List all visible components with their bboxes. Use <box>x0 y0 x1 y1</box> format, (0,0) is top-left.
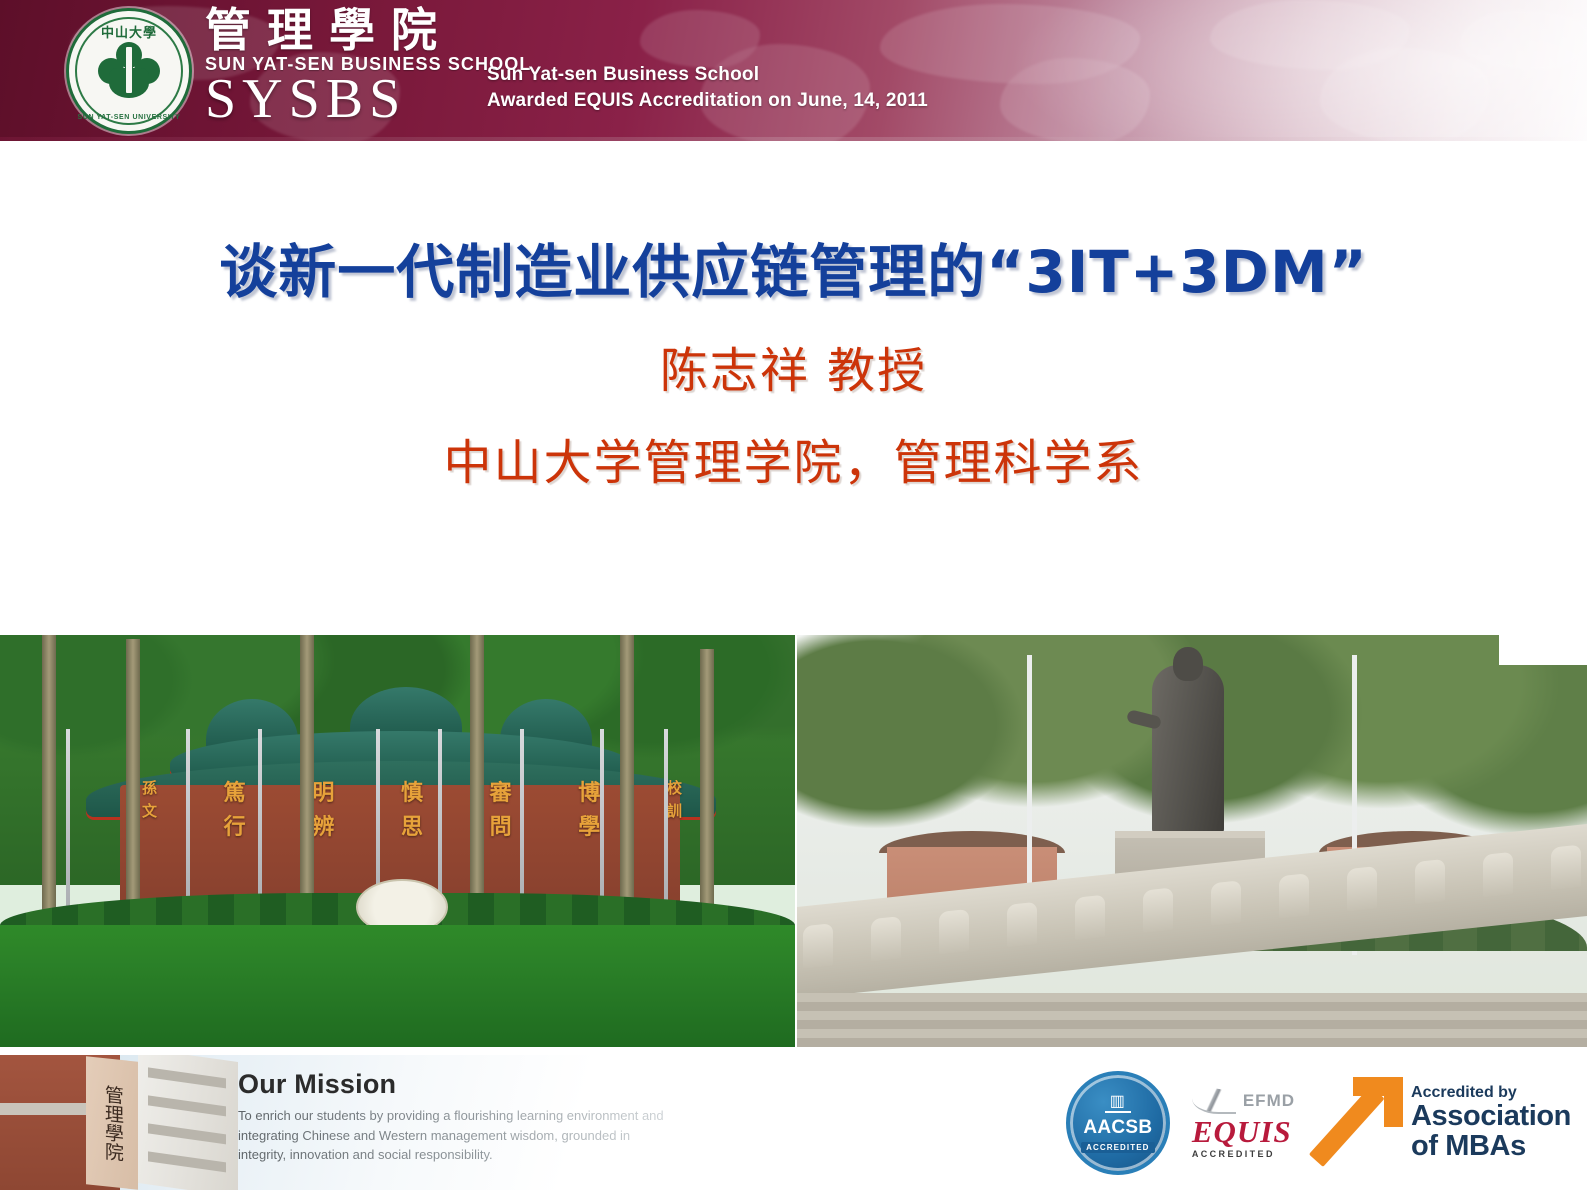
banner-glow <box>947 0 1587 141</box>
aacsb-pillars-glyph: ▥ <box>1110 1094 1126 1110</box>
building-sign-characters: 管理學院 <box>86 1056 138 1189</box>
tagline-line-1: Sun Yat-sen Business School <box>487 62 928 88</box>
motto-top-1: 篤 <box>224 777 246 811</box>
mission-heading: Our Mission <box>238 1069 668 1100</box>
amba-line-2: Association <box>1411 1101 1571 1131</box>
equis-logo-icon: EFMD EQUIS ACCREDITED <box>1192 1088 1295 1159</box>
efmd-name: EFMD <box>1243 1091 1295 1111</box>
banner-tagline: Sun Yat-sen Business School Awarded EQUI… <box>487 62 928 114</box>
amba-line-1: Accredited by <box>1411 1085 1571 1102</box>
motto-top-2: 明 <box>312 777 334 811</box>
motto-top-3: 慎 <box>401 777 423 811</box>
motto-bottom-6: 訓 <box>667 800 682 823</box>
header-banner: 中山大學 SUN YAT-SEN UNIVERSITY 管理學院 SUN YAT… <box>0 0 1587 141</box>
motto-top-4: 審 <box>490 777 512 811</box>
mission-block: Our Mission To enrich our students by pr… <box>238 1069 668 1165</box>
footer-strip: 管理學院 Our Mission To enrich our students … <box>0 1055 1587 1190</box>
motto-bottom-3: 思 <box>401 811 423 845</box>
sun-yat-sen-statue-photo <box>797 635 1587 1047</box>
accreditation-logos: ▥ AACSB ACCREDITED EFMD EQUIS ACCREDITED… <box>1066 1061 1571 1185</box>
aacsb-logo-icon: ▥ AACSB ACCREDITED <box>1066 1071 1170 1175</box>
photo-row: 孫文 篤行 明辨 慎思 審問 博學 校訓 <box>0 635 1587 1047</box>
amba-line-3: of MBAs <box>1411 1131 1571 1161</box>
aacsb-sub: ACCREDITED <box>1081 1142 1154 1153</box>
amba-logo-icon: Accredited by Association of MBAs <box>1317 1075 1571 1171</box>
mission-text: To enrich our students by providing a fl… <box>238 1106 668 1165</box>
building-sign-text: 管理學院 <box>100 1084 124 1162</box>
speaker-name: 陈志祥 教授 <box>0 331 1587 401</box>
title-area: 谈新一代制造业供应链管理的“3IT+3DM” 陈志祥 教授 中山大学管理学院，管… <box>0 141 1587 635</box>
amba-arrow-icon <box>1317 1075 1403 1171</box>
school-name-chinese: 管理學院 <box>205 6 685 56</box>
motto-top-6: 校 <box>667 777 682 800</box>
campus-building-photo: 孫文 篤行 明辨 慎思 審問 博學 校訓 <box>0 635 795 1047</box>
emblem-top-characters: 中山大學 <box>69 22 189 41</box>
efmd-swoosh-icon <box>1192 1088 1236 1114</box>
equis-sub: ACCREDITED <box>1192 1149 1275 1159</box>
motto-bottom-4: 問 <box>490 811 512 845</box>
university-emblem-icon: 中山大學 SUN YAT-SEN UNIVERSITY <box>66 8 192 134</box>
motto-bottom-5: 學 <box>578 811 600 845</box>
statue-figure <box>1152 665 1224 835</box>
tagline-line-2: Awarded EQUIS Accreditation on June, 14,… <box>487 88 928 114</box>
equis-name: EQUIS <box>1192 1116 1292 1147</box>
stone-steps <box>797 993 1587 1047</box>
emblem-arc-text: SUN YAT-SEN UNIVERSITY <box>69 114 189 121</box>
motto-top-0: 孫 <box>142 777 157 800</box>
motto-bottom-1: 行 <box>224 811 246 845</box>
aacsb-name: AACSB <box>1083 1117 1152 1139</box>
lawn <box>0 925 795 1047</box>
page-title: 谈新一代制造业供应链管理的“3IT+3DM” <box>0 225 1587 309</box>
motto-bottom-0: 文 <box>142 800 157 823</box>
motto-top-5: 博 <box>578 777 600 811</box>
speaker-affiliation: 中山大学管理学院，管理科学系 <box>0 423 1587 493</box>
school-building-photo: 管理學院 <box>0 1055 240 1190</box>
motto-bottom-2: 辨 <box>312 811 334 845</box>
emblem-seal <box>98 42 160 100</box>
